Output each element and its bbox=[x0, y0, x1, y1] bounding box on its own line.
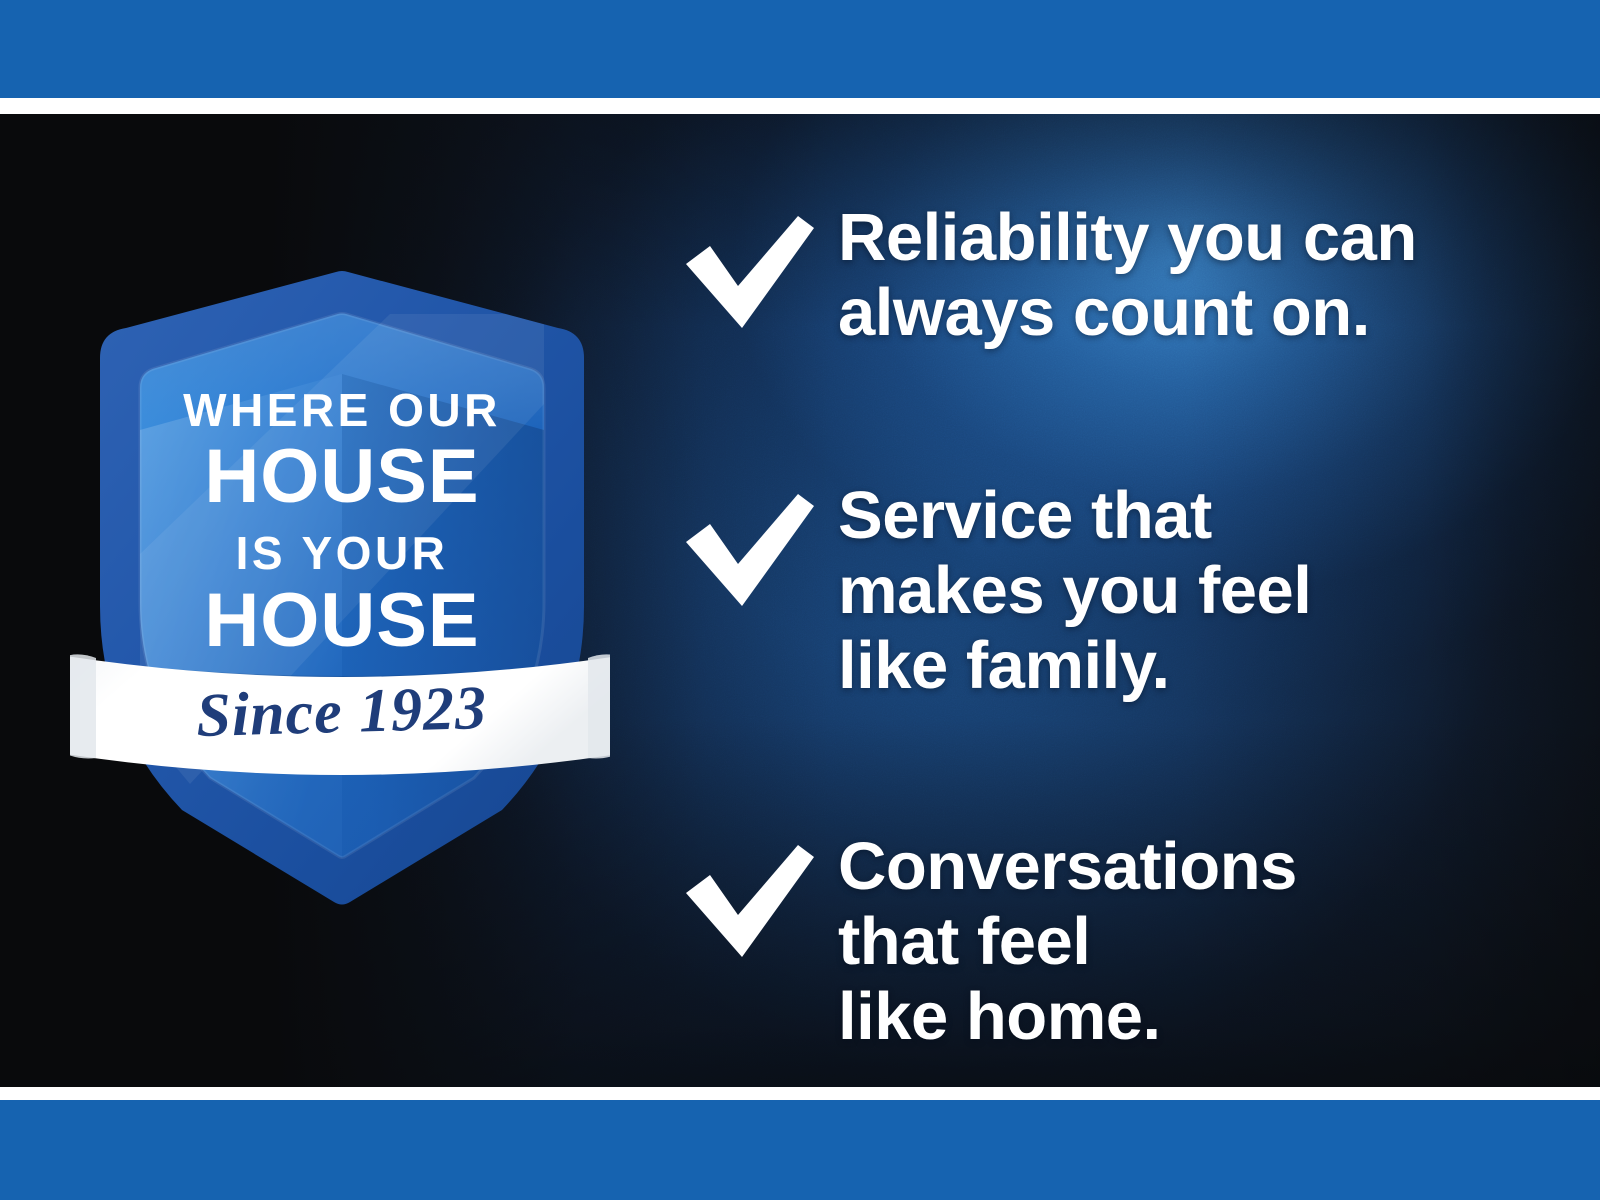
benefit-item-1: Reliability you can always count on. bbox=[680, 200, 1540, 350]
bottom-white-divider bbox=[0, 1087, 1600, 1100]
benefit-list: Reliability you can always count on. Ser… bbox=[680, 200, 1540, 1054]
logo-since-text: Since 1923 bbox=[195, 674, 488, 750]
benefit-item-2: Service that makes you feel like family. bbox=[680, 478, 1540, 703]
main-stage: WHERE OUR HOUSE IS YOUR HOUSE Since 1923 bbox=[0, 114, 1600, 1087]
checkmark-icon bbox=[680, 490, 820, 610]
benefit-text-3: Conversations that feel like home. bbox=[838, 829, 1540, 1054]
top-white-divider bbox=[0, 98, 1600, 114]
bottom-brand-bar bbox=[0, 1100, 1600, 1200]
logo-line-3: IS YOUR bbox=[236, 527, 449, 579]
benefit-text-1: Reliability you can always count on. bbox=[838, 200, 1540, 350]
logo-line-2: HOUSE bbox=[204, 434, 479, 519]
logo-line-1: WHERE OUR bbox=[183, 384, 501, 436]
checkmark-icon bbox=[680, 841, 820, 961]
top-brand-bar bbox=[0, 0, 1600, 98]
company-shield-logo: WHERE OUR HOUSE IS YOUR HOUSE Since 1923 bbox=[70, 254, 610, 934]
logo-line-4: HOUSE bbox=[204, 578, 479, 663]
promo-banner: WHERE OUR HOUSE IS YOUR HOUSE Since 1923 bbox=[0, 0, 1600, 1200]
benefit-item-3: Conversations that feel like home. bbox=[680, 829, 1540, 1054]
benefit-text-2: Service that makes you feel like family. bbox=[838, 478, 1540, 703]
checkmark-icon bbox=[680, 212, 820, 332]
